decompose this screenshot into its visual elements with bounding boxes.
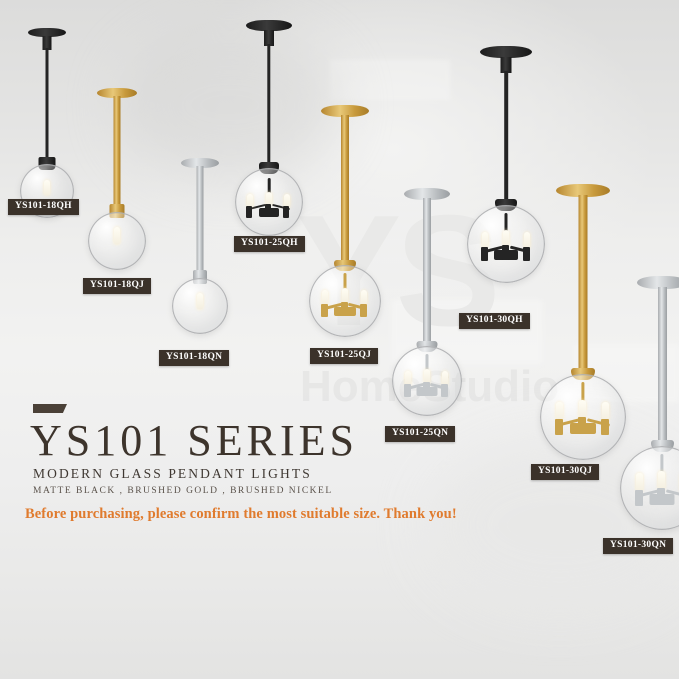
bulb xyxy=(579,400,586,418)
title-decoration-bar xyxy=(33,404,67,413)
bulb xyxy=(322,290,328,305)
down-rod xyxy=(579,195,588,373)
candle-cup xyxy=(441,384,448,397)
candle-cup xyxy=(555,419,563,435)
product-code-label: YS101-30QJ xyxy=(531,464,599,480)
bulb xyxy=(442,371,448,385)
bulb xyxy=(44,180,50,195)
bulb xyxy=(636,473,643,491)
bulb xyxy=(503,230,509,246)
bulb xyxy=(556,402,563,420)
bulb xyxy=(114,227,120,244)
pendant-ys101-30qn xyxy=(613,276,679,546)
candle-cup xyxy=(321,304,328,317)
candle-cup xyxy=(265,204,271,217)
candle-cup xyxy=(404,384,411,397)
glass-globe xyxy=(88,212,146,270)
candle-cup xyxy=(601,419,609,435)
glass-globe xyxy=(620,446,679,530)
cord xyxy=(267,44,270,164)
bulb xyxy=(405,371,411,385)
down-rod xyxy=(341,115,349,265)
down-rod xyxy=(197,166,204,274)
product-code-label: YS101-18QH xyxy=(8,199,79,215)
pendant-ys101-18qj xyxy=(80,88,154,288)
candle-cup xyxy=(360,304,367,317)
candle-cup xyxy=(423,382,430,396)
pendant-ys101-25qn xyxy=(385,188,469,428)
wall-panel xyxy=(330,60,450,100)
down-rod xyxy=(658,287,667,445)
pendant-ys101-25qj xyxy=(303,105,387,345)
pendant-ys101-25qh xyxy=(228,10,310,240)
down-rod xyxy=(423,198,431,346)
candle-cup xyxy=(635,490,643,506)
product-code-label: YS101-25QN xyxy=(385,426,455,442)
product-code-label: YS101-25QH xyxy=(234,236,305,252)
bulb xyxy=(424,369,430,383)
product-code-label: YS101-18QN xyxy=(159,350,229,366)
candle-cup xyxy=(502,245,509,260)
purchase-notice: Before purchasing, please confirm the mo… xyxy=(25,506,457,523)
pendant-ys101-18qn xyxy=(163,158,237,348)
bulb xyxy=(197,293,203,309)
candle-cup xyxy=(341,302,348,316)
down-rod xyxy=(114,96,121,208)
product-code-label: YS101-25QJ xyxy=(310,348,378,364)
bulb xyxy=(482,232,488,248)
candle-cup xyxy=(578,417,586,434)
cord xyxy=(504,71,508,201)
glass-globe xyxy=(309,265,381,337)
bulb xyxy=(602,402,609,420)
bulb xyxy=(524,232,530,248)
candle-cup xyxy=(657,488,665,505)
candle-cup xyxy=(283,206,289,218)
page-title: YS101 SERIES xyxy=(30,419,358,463)
bulb xyxy=(658,471,665,489)
glass-globe xyxy=(392,346,462,416)
candle-cup xyxy=(481,247,488,261)
pendant-ys101-18qh xyxy=(12,14,82,214)
bulb xyxy=(342,288,348,303)
product-code-label: YS101-18QJ xyxy=(83,278,151,294)
bulb xyxy=(361,290,367,305)
glass-globe xyxy=(172,278,228,334)
product-code-label: YS101-30QH xyxy=(459,313,530,329)
glass-globe xyxy=(467,205,545,283)
candle-cup xyxy=(523,247,530,261)
glass-globe xyxy=(235,168,303,236)
product-image-canvas: YS HomeStudio YS101-18QH YS101-18QJ YS10… xyxy=(0,0,679,679)
size-comparison-chart: 7.1 " 8.7 " xyxy=(0,530,679,679)
finish-options-text: MATTE BLACK , BRUSHED GOLD , BRUSHED NIC… xyxy=(33,486,333,496)
cord xyxy=(46,48,49,160)
candle-cup xyxy=(246,206,252,218)
page-subtitle: MODERN GLASS PENDANT LIGHTS xyxy=(33,466,312,482)
